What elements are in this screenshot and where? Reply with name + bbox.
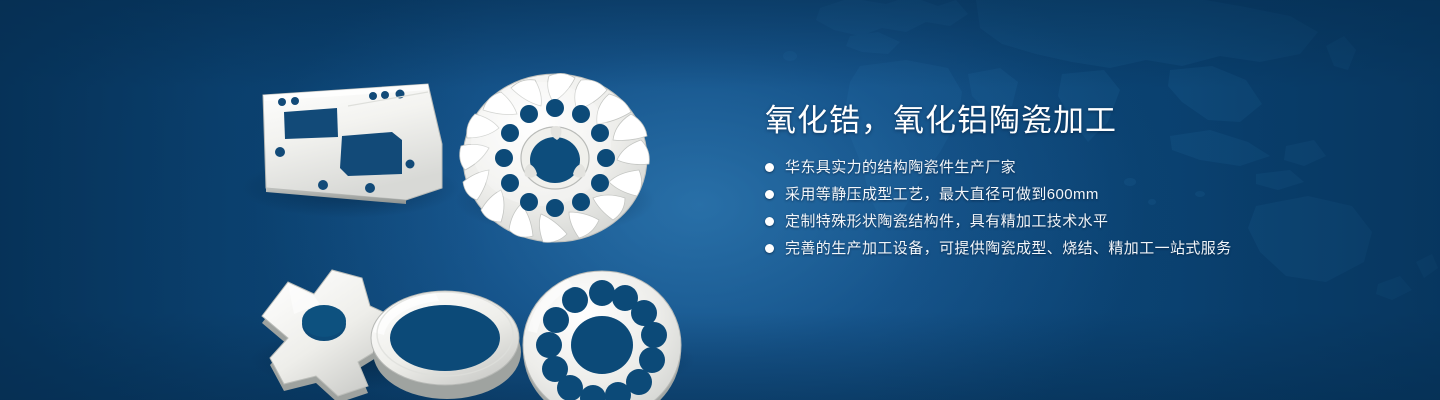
feature-list-item: 采用等静压成型工艺，最大直径可做到600mm — [765, 183, 1365, 206]
feature-text: 采用等静压成型工艺，最大直径可做到600mm — [785, 183, 1099, 206]
ceramic-impeller-part — [460, 73, 650, 242]
bullet-dot-icon — [765, 163, 774, 172]
bullet-dot-icon — [765, 190, 774, 199]
product-banner: 氧化锆，氧化铝陶瓷加工 华东具实力的结构陶瓷件生产厂家 采用等静压成型工艺，最大… — [0, 0, 1440, 400]
ceramic-perforated-disc-part — [523, 271, 681, 400]
feature-text: 定制特殊形状陶瓷结构件，具有精加工技术水平 — [785, 210, 1108, 233]
banner-title: 氧化锆，氧化铝陶瓷加工 — [765, 100, 1365, 142]
feature-list-item: 定制特殊形状陶瓷结构件，具有精加工技术水平 — [765, 210, 1365, 233]
feature-list: 华东具实力的结构陶瓷件生产厂家 采用等静压成型工艺，最大直径可做到600mm 定… — [765, 156, 1365, 260]
ceramic-products-image — [230, 40, 730, 390]
feature-text: 华东具实力的结构陶瓷件生产厂家 — [785, 156, 1016, 179]
feature-list-item: 华东具实力的结构陶瓷件生产厂家 — [765, 156, 1365, 179]
ceramic-ring-part — [371, 291, 521, 399]
feature-text: 完善的生产加工设备，可提供陶瓷成型、烧结、精加工一站式服务 — [785, 237, 1232, 260]
bullet-dot-icon — [765, 217, 774, 226]
feature-list-item: 完善的生产加工设备，可提供陶瓷成型、烧结、精加工一站式服务 — [765, 237, 1365, 260]
bullet-dot-icon — [765, 244, 774, 253]
banner-text-block: 氧化锆，氧化铝陶瓷加工 华东具实力的结构陶瓷件生产厂家 采用等静压成型工艺，最大… — [765, 100, 1365, 264]
ceramic-plate-part — [263, 84, 442, 204]
